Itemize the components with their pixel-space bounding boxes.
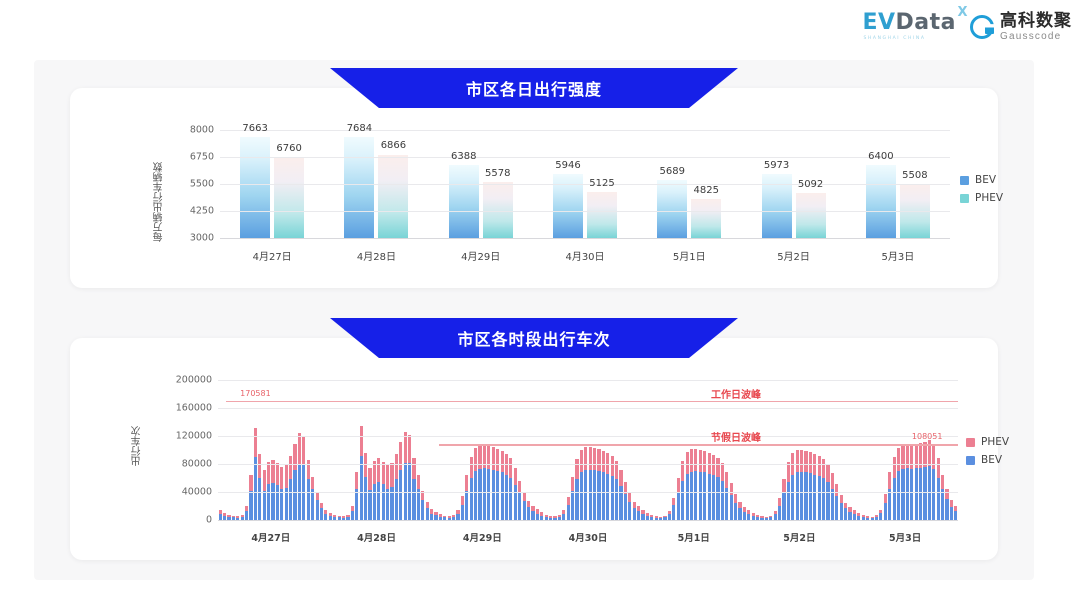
- chart2-stacked-bar: [730, 483, 733, 520]
- chart2-bar-segment-bev: [923, 467, 926, 520]
- chart2-bar-segment-phev: [412, 458, 415, 478]
- chart2-bar-segment-bev: [483, 468, 486, 520]
- chart2-stacked-bar: [531, 506, 534, 520]
- chart2-stacked-bar: [364, 453, 367, 520]
- chart1-bar-phev: [378, 155, 408, 239]
- chart2-stacked-bar: [690, 449, 693, 520]
- chart2-bar-segment-phev: [293, 444, 296, 471]
- chart2-stacked-bar: [580, 450, 583, 520]
- chart2-bar-segment-bev: [677, 492, 680, 520]
- chart2-stacked-bar: [703, 451, 706, 520]
- chart1-bar-value-label: 6388: [451, 151, 476, 162]
- chart2-bar-segment-phev: [597, 449, 600, 471]
- chart2-stacked-bar: [298, 433, 301, 520]
- chart2-bar-segment-bev: [686, 474, 689, 520]
- dashboard-panel: 每万辆出行车辆数30004250550067508000766367604月27…: [34, 60, 1034, 580]
- chart1-bar-value-label: 5092: [798, 179, 823, 190]
- chart2-stacked-bar: [311, 477, 314, 520]
- chart2-stacked-bar: [412, 458, 415, 520]
- chart1-y-tick: 8000: [174, 125, 214, 136]
- chart2-bar-segment-phev: [368, 468, 371, 490]
- chart2-x-tick: 5月2日: [783, 530, 815, 544]
- chart2-bar-segment-bev: [721, 481, 724, 520]
- chart1-y-tick: 4250: [174, 206, 214, 217]
- chart2-bar-segment-phev: [390, 463, 393, 487]
- chart2-bar-segment-bev: [690, 472, 693, 520]
- chart2-stacked-bar: [831, 473, 834, 520]
- gausscode-logo-text: 高科数聚 Gausscode: [1000, 12, 1072, 42]
- chart2-bar-segment-phev: [888, 472, 891, 488]
- chart2-bar-segment-phev: [672, 498, 675, 506]
- chart2-bar-segment-bev: [941, 489, 944, 520]
- chart2-stacked-bar: [774, 511, 777, 520]
- chart2-bar-segment-phev: [514, 468, 517, 485]
- chart2-stacked-bar: [844, 503, 847, 520]
- chart1-bar-phev: [274, 157, 304, 238]
- chart1-x-tick: 4月30日: [565, 248, 604, 263]
- chart2-bar-segment-bev: [730, 495, 733, 520]
- chart2-bar-segment-phev: [307, 460, 310, 480]
- chart2-bar-segment-bev: [527, 507, 530, 520]
- gausscode-logo-en: Gausscode: [1000, 32, 1072, 42]
- chart2-bar-segment-bev: [893, 478, 896, 520]
- chart1-bar-value-label: 5973: [764, 160, 789, 171]
- chart2-bar-segment-bev: [421, 500, 424, 520]
- chart2-stacked-bar: [725, 472, 728, 520]
- chart2-stacked-bar: [417, 475, 420, 520]
- chart2-legend: PHEVBEV: [966, 436, 1009, 472]
- chart2-bar-segment-phev: [800, 450, 803, 472]
- chart2-bar-segment-bev: [633, 508, 636, 520]
- chart2-gridline: [218, 380, 958, 381]
- chart1-y-tick: 3000: [174, 233, 214, 244]
- chart2-stacked-bar: [809, 452, 812, 520]
- chart2-bar-segment-phev: [298, 433, 301, 464]
- chart1-legend-item: PHEV: [960, 192, 1003, 204]
- chart2-bar-segment-bev: [593, 470, 596, 520]
- chart2-stacked-bar: [738, 502, 741, 520]
- chart2-y-tick: 160000: [168, 403, 212, 414]
- chart2-bar-segment-phev: [840, 495, 843, 503]
- chart2-bar-segment-bev: [694, 471, 697, 520]
- chart2-bar-segment-bev: [505, 475, 508, 521]
- chart2-stacked-bar: [602, 451, 605, 520]
- chart1-gridline: [220, 211, 950, 212]
- chart2-bar-segment-phev: [316, 492, 319, 500]
- chart2-bar-segment-bev: [831, 489, 834, 521]
- chart2-peak-value-workday: 170581: [240, 389, 271, 398]
- chart2-bar-segment-phev: [734, 494, 737, 502]
- chart2-bar-segment-bev: [844, 508, 847, 520]
- chart2-stacked-bar: [804, 451, 807, 520]
- chart2-bar-segment-phev: [778, 498, 781, 506]
- evdata-logo-ev: EV: [862, 10, 895, 35]
- chart2-bar-segment-phev: [302, 436, 305, 464]
- chart2-stacked-bar: [271, 460, 274, 520]
- chart2-stacked-bar: [289, 456, 292, 520]
- chart2-bar-segment-bev: [897, 471, 900, 520]
- chart2-annotation-label-workday: 工作日波峰: [711, 386, 761, 401]
- chart2-stacked-bar: [778, 498, 781, 520]
- chart2-bar-segment-bev: [708, 474, 711, 520]
- chart2-stacked-bar: [796, 450, 799, 520]
- chart2-stacked-bar: [461, 496, 464, 520]
- chart2-bar-segment-bev: [822, 478, 825, 520]
- chart2-bar-segment-phev: [677, 478, 680, 492]
- chart2-stacked-bar: [267, 462, 270, 520]
- chart2-bar-segment-bev: [258, 478, 261, 520]
- chart2-bar-segment-phev: [289, 456, 292, 480]
- chart2-bar-segment-bev: [884, 503, 887, 520]
- chart2-bar-segment-phev: [501, 451, 504, 473]
- chart2-bar-segment-phev: [523, 492, 526, 501]
- chart2-stacked-bar: [668, 511, 671, 520]
- chart2-legend-label: BEV: [981, 454, 1002, 466]
- chart2-x-tick: 4月29日: [463, 530, 502, 544]
- chart2-stacked-bar: [646, 513, 649, 520]
- chart2-bar-segment-bev: [523, 501, 526, 520]
- chart2-stacked-bar: [752, 513, 755, 520]
- chart2-bar-segment-bev: [289, 479, 292, 520]
- chart2-stacked-bar: [421, 491, 424, 520]
- chart2-bar-segment-bev: [738, 508, 741, 520]
- chart2-bar-segment-bev: [813, 475, 816, 521]
- chart2-stacked-bar: [302, 436, 305, 520]
- chart1-bar-bev: [866, 165, 896, 238]
- chart2-bar-segment-phev: [395, 454, 398, 479]
- chart1-bar-value-label: 6866: [381, 140, 406, 151]
- chart2-stacked-bar: [624, 482, 627, 520]
- chart2-bar-segment-bev: [597, 471, 600, 520]
- chart2-gridline: [218, 520, 958, 521]
- chart2-bar-segment-bev: [399, 470, 402, 520]
- chart2-bar-segment-bev: [364, 477, 367, 520]
- chart2-bar-segment-bev: [316, 500, 319, 520]
- chart2-stacked-bar: [408, 435, 411, 520]
- chart2-annotation-line-workday: [226, 401, 958, 402]
- chart2-bar-segment-phev: [254, 428, 257, 457]
- chart2-bar-segment-bev: [637, 511, 640, 520]
- chart1-legend-label: BEV: [975, 174, 996, 186]
- chart2-bar-segment-bev: [514, 485, 517, 520]
- chart1-gridline: [220, 238, 950, 239]
- chart2-bar-segment-bev: [501, 472, 504, 520]
- chart2-bar-segment-bev: [355, 489, 358, 520]
- chart2-y-tick: 80000: [168, 459, 212, 470]
- chart1-x-tick: 5月1日: [673, 248, 706, 263]
- chart2-gridline: [218, 408, 958, 409]
- chart2-bar-segment-phev: [804, 451, 807, 472]
- chart2-bar-segment-bev: [606, 474, 609, 520]
- chart2-bar-segment-phev: [796, 450, 799, 472]
- chart2-stacked-bar: [822, 459, 825, 520]
- chart2-bar-segment-bev: [835, 496, 838, 521]
- chart2-bar-segment-bev: [474, 471, 477, 520]
- chart2-stacked-bar: [941, 475, 944, 521]
- chart2-stacked-bar: [835, 484, 838, 520]
- chart2-bar-segment-bev: [276, 485, 279, 520]
- chart2-bar-segment-phev: [311, 477, 314, 490]
- chart2-stacked-bar: [637, 506, 640, 520]
- evdata-logo-subtitle: SHANGHAI CHINA: [863, 37, 925, 42]
- chart2-stacked-bar: [633, 502, 636, 520]
- chart2-stacked-bar: [293, 444, 296, 520]
- chart2-stacked-bar: [280, 467, 283, 520]
- chart1-bar-value-label: 5508: [902, 170, 927, 181]
- chart2-bar-segment-phev: [263, 470, 266, 491]
- chart1-y-tick: 5500: [174, 179, 214, 190]
- chart2-stacked-bar: [857, 513, 860, 520]
- chart2-gridline: [218, 464, 958, 465]
- chart2-bar-segment-bev: [509, 478, 512, 520]
- chart2-bar-segment-bev: [377, 482, 380, 520]
- chart2-bar-segment-phev: [703, 451, 706, 473]
- chart2-bar-segment-phev: [417, 475, 420, 488]
- chart2-bar-segment-bev: [888, 489, 891, 521]
- chart1-gridline: [220, 184, 950, 185]
- chart2-bar-segment-bev: [311, 489, 314, 520]
- chart2-bar-segment-phev: [580, 450, 583, 472]
- chart2-legend-label: PHEV: [981, 436, 1009, 448]
- chart2-bar-segment-phev: [787, 462, 790, 481]
- chart-title-2: 市区各时段出行车次: [457, 326, 610, 350]
- chart2-bar-segment-bev: [571, 491, 574, 520]
- chart2-bar-segment-bev: [906, 468, 909, 520]
- chart2-bar-segment-bev: [293, 470, 296, 520]
- chart2-bar-segment-phev: [822, 459, 825, 478]
- chart2-y-tick: 0: [168, 515, 212, 526]
- chart2-bar-segment-phev: [730, 483, 733, 495]
- chart2-stacked-bar: [571, 477, 574, 520]
- chart2-y-tick: 120000: [168, 431, 212, 442]
- chart2-bar-segment-bev: [271, 483, 274, 520]
- chart2-stacked-bar: [893, 457, 896, 520]
- chart2-stacked-bar: [368, 468, 371, 520]
- chart1-bar-value-label: 5125: [589, 178, 614, 189]
- chart-daily-travel-intensity: 每万辆出行车辆数30004250550067508000766367604月27…: [70, 122, 998, 282]
- chart2-stacked-bar: [404, 432, 407, 520]
- chart1-bar-value-label: 5578: [485, 168, 510, 179]
- chart2-bar-segment-phev: [831, 473, 834, 488]
- chart2-bar-segment-bev: [412, 479, 415, 520]
- chart2-stacked-bar: [426, 502, 429, 520]
- chart2-stacked-bar: [562, 510, 565, 520]
- chart-hourly-travel-trips: 出行车次040000800001200001600002000004月27日4月…: [70, 374, 998, 560]
- chart2-bar-segment-bev: [487, 469, 490, 520]
- chart2-bar-segment-bev: [703, 472, 706, 520]
- chart2-stacked-bar: [329, 513, 332, 520]
- chart2-bar-segment-bev: [782, 493, 785, 520]
- chart2-bar-segment-bev: [791, 475, 794, 521]
- chart2-bar-segment-bev: [575, 479, 578, 520]
- chart2-bar-segment-bev: [950, 507, 953, 520]
- chart2-bar-segment-phev: [782, 479, 785, 493]
- chart2-legend-item: PHEV: [966, 436, 1009, 448]
- chart2-x-tick: 4月28日: [357, 530, 396, 544]
- chart2-bar-segment-bev: [800, 472, 803, 520]
- chart2-bar-segment-bev: [879, 513, 882, 520]
- chart2-stacked-bar: [840, 495, 843, 520]
- chart2-stacked-bar: [906, 444, 909, 520]
- chart2-bar-segment-bev: [465, 491, 468, 520]
- chart2-bar-segment-bev: [267, 484, 270, 520]
- chart2-stacked-bar: [518, 481, 521, 520]
- chart2-legend-item: BEV: [966, 454, 1009, 466]
- chart2-bar-segment-phev: [492, 447, 495, 470]
- chart2-bar-segment-phev: [901, 445, 904, 469]
- chart2-bar-segment-bev: [699, 472, 702, 520]
- chart2-stacked-bar: [430, 509, 433, 520]
- chart2-stacked-bar: [743, 507, 746, 520]
- chart2-bar-segment-phev: [474, 448, 477, 471]
- chart2-stacked-bar: [888, 472, 891, 520]
- chart1-gridline: [220, 130, 950, 131]
- chart2-bar-segment-bev: [840, 503, 843, 520]
- chart2-bar-segment-bev: [426, 508, 429, 520]
- chart2-stacked-bar: [536, 509, 539, 520]
- chart2-stacked-bar: [694, 449, 697, 520]
- chart1-legend-swatch: [960, 194, 969, 203]
- chart2-stacked-bar: [681, 461, 684, 520]
- chart2-bar-segment-phev: [280, 467, 283, 489]
- chart2-bar-segment-bev: [716, 477, 719, 520]
- chart2-bar-segment-phev: [593, 448, 596, 470]
- chart2-bar-segment-phev: [619, 470, 622, 486]
- chart2-x-tick: 5月1日: [678, 530, 710, 544]
- chart2-bar-segment-phev: [249, 475, 252, 490]
- evdata-logo-wordmark: EVDataX: [862, 12, 956, 34]
- chart2-stacked-bar: [800, 450, 803, 520]
- chart1-legend-swatch: [960, 176, 969, 185]
- chart2-bar-segment-phev: [611, 456, 614, 476]
- chart2-bar-segment-bev: [368, 490, 371, 520]
- chart2-bar-segment-phev: [465, 475, 468, 490]
- chart2-bar-segment-bev: [518, 493, 521, 520]
- chart2-stacked-bar: [223, 513, 226, 520]
- chart2-stacked-bar: [708, 453, 711, 520]
- chart2-stacked-bar: [355, 472, 358, 520]
- chart2-y-tick: 40000: [168, 487, 212, 498]
- chart2-bar-segment-bev: [280, 489, 283, 520]
- chart1-legend-label: PHEV: [975, 192, 1003, 204]
- chart-title-banner-1: 市区各日出行强度: [330, 68, 738, 108]
- chart2-stacked-bar: [950, 500, 953, 520]
- chart1-bar-bev: [344, 137, 374, 238]
- chart2-bar-segment-bev: [478, 469, 481, 520]
- chart1-bar-value-label: 7684: [347, 123, 372, 134]
- chart2-bar-segment-phev: [721, 463, 724, 481]
- chart2-stacked-bar: [249, 475, 252, 520]
- chart2-stacked-bar: [434, 512, 437, 520]
- chart2-bar-segment-phev: [686, 452, 689, 474]
- chart2-bar-segment-bev: [373, 484, 376, 520]
- chart1-bar-phev: [587, 192, 617, 238]
- chart2-stacked-bar: [399, 442, 402, 520]
- chart1-bar-value-label: 5946: [555, 160, 580, 171]
- chart2-bar-segment-bev: [584, 470, 587, 520]
- chart2-bar-segment-phev: [699, 450, 702, 472]
- chart1-bar-value-label: 5689: [660, 166, 685, 177]
- chart2-stacked-bar: [734, 494, 737, 520]
- chart2-bar-segment-phev: [725, 472, 728, 487]
- chart2-stacked-bar: [514, 468, 517, 520]
- chart2-bar-segment-bev: [932, 469, 935, 520]
- chart2-bar-segment-bev: [826, 482, 829, 521]
- chart1-gridline: [220, 157, 950, 158]
- chart2-stacked-bar: [320, 503, 323, 521]
- chart1-y-tick: 6750: [174, 152, 214, 163]
- chart2-bar-segment-phev: [386, 465, 389, 488]
- chart-title-banner-2: 市区各时段出行车次: [330, 318, 738, 358]
- evdata-logo: EVDataX SHANGHAI CHINA: [862, 12, 956, 42]
- chart2-stacked-bar: [928, 440, 931, 520]
- chart2-stacked-bar: [923, 442, 926, 520]
- chart1-bar-bev: [449, 165, 479, 238]
- chart2-peak-value-holiday: 108051: [912, 432, 943, 441]
- chart2-stacked-bar: [254, 428, 257, 520]
- chart2-stacked-bar: [879, 510, 882, 520]
- chart2-stacked-bar: [597, 449, 600, 520]
- chart2-stacked-bar: [606, 453, 609, 520]
- chart2-stacked-bar: [470, 457, 473, 520]
- chart2-bar-segment-bev: [567, 505, 570, 520]
- chart2-bar-segment-bev: [901, 469, 904, 520]
- chart2-bar-segment-phev: [941, 475, 944, 490]
- chart2-bar-segment-phev: [285, 465, 288, 488]
- chart2-stacked-bar: [567, 497, 570, 520]
- chart2-stacked-bar: [575, 459, 578, 520]
- chart2-stacked-bar: [584, 447, 587, 520]
- chart2-stacked-bar: [382, 462, 385, 520]
- chart2-bar-segment-phev: [382, 462, 385, 484]
- chart2-bar-segment-bev: [804, 472, 807, 520]
- chart2-y-tick: 200000: [168, 375, 212, 386]
- chart-title-1: 市区各日出行强度: [466, 76, 602, 100]
- chart2-bar-segment-bev: [254, 457, 257, 520]
- chart2-stacked-bar: [496, 449, 499, 520]
- chart2-stacked-bar: [465, 475, 468, 520]
- chart2-stacked-bar: [509, 458, 512, 520]
- chart2-bar-segment-phev: [937, 458, 940, 478]
- chart2-bar-segment-bev: [615, 479, 618, 520]
- chart2-bar-segment-bev: [743, 512, 746, 520]
- chart2-bar-segment-bev: [681, 481, 684, 520]
- chart2-bar-segment-bev: [320, 508, 323, 520]
- chart2-bar-segment-bev: [249, 491, 252, 520]
- chart1-x-tick: 4月29日: [461, 248, 500, 263]
- chart2-bar-segment-phev: [258, 454, 261, 479]
- chart2-bar-segment-bev: [910, 469, 913, 520]
- chart2-stacked-bar: [615, 461, 618, 521]
- chart2-bar-segment-bev: [602, 472, 605, 520]
- chart2-bar-segment-bev: [712, 475, 715, 520]
- chart-card-daily-intensity: 每万辆出行车辆数30004250550067508000766367604月27…: [70, 88, 998, 288]
- chart2-bar-segment-bev: [263, 491, 266, 520]
- chart2-annotation-line-holiday: [439, 444, 958, 445]
- chart2-bar-segment-bev: [531, 511, 534, 520]
- chart2-bar-segment-phev: [575, 459, 578, 479]
- chart1-bar-value-label: 7663: [242, 123, 267, 134]
- chart1-legend-item: BEV: [960, 174, 1003, 186]
- chart2-bar-segment-bev: [787, 482, 790, 521]
- chart2-bar-segment-bev: [395, 479, 398, 520]
- chart2-x-tick: 4月30日: [569, 530, 608, 544]
- chart2-stacked-bar: [954, 506, 957, 520]
- chart2-stacked-bar: [611, 456, 614, 520]
- chart2-bar-segment-phev: [835, 484, 838, 496]
- chart2-stacked-bar: [747, 510, 750, 520]
- chart2-bar-segment-phev: [932, 444, 935, 469]
